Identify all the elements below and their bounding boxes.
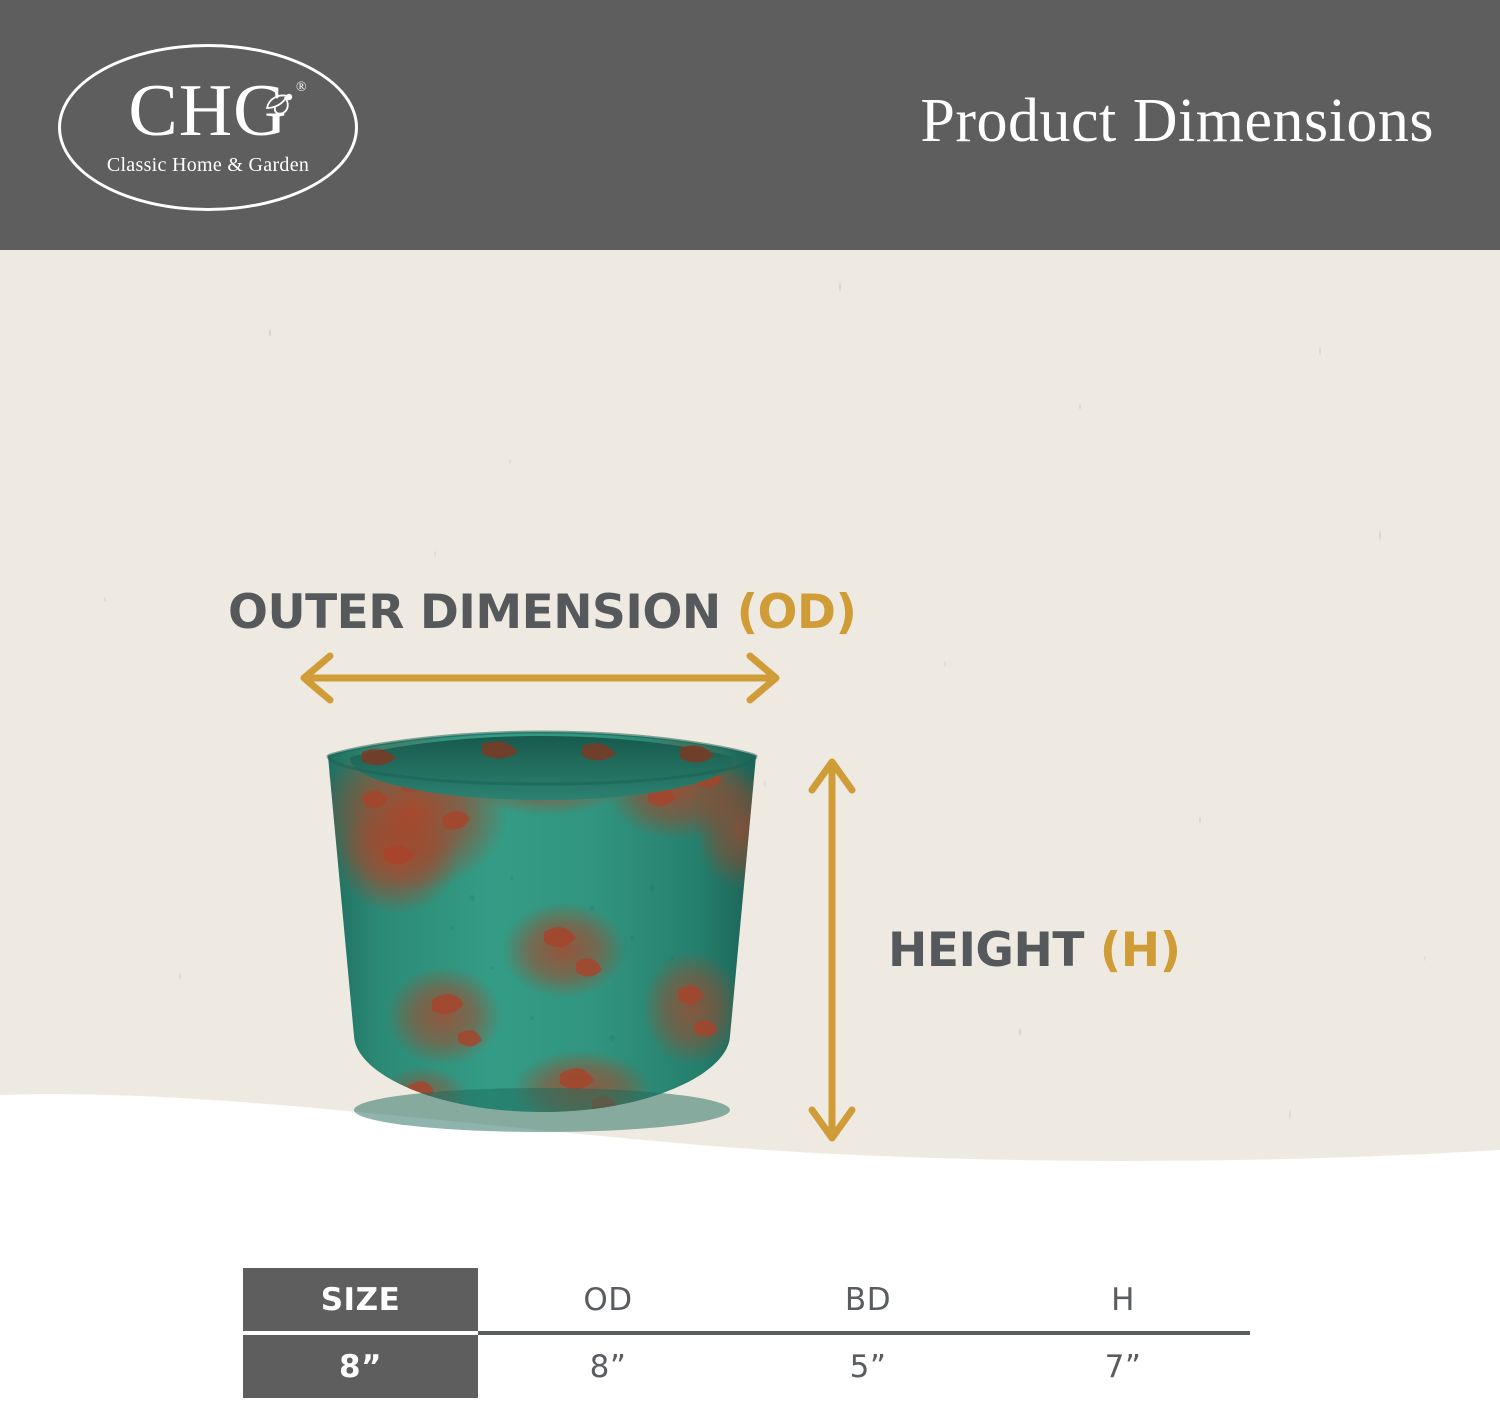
table-header-size-label: SIZE [321,1282,401,1318]
planter-pot-illustration [292,718,792,1158]
diagram-panel: OUTER DIMENSION (OD) [0,250,1500,1170]
label-outer-dimension-text: OUTER DIMENSION [228,585,721,640]
product-dimensions-infographic: CHG ® Classic Home & Garden Product Dime… [0,0,1500,1404]
table-row: 8” 8” 5” 7” [243,1335,1253,1398]
table-header-cell-size: SIZE [243,1268,478,1331]
label-outer-dimension-code: (OD) [737,585,857,640]
logo-monogram: CHG [58,74,358,148]
logo-tagline: Classic Home & Garden [58,154,358,177]
page-title: Product Dimensions [920,86,1434,156]
label-height: HEIGHT (H) [888,925,1181,977]
table-cell-od: 8” [533,1335,683,1398]
chg-logo: CHG ® Classic Home & Garden [58,44,358,211]
table-header-cell-h: H [1048,1268,1198,1331]
table-cell-h: 7” [1048,1335,1198,1398]
table-header-row: SIZE OD BD H [243,1268,1253,1331]
registered-trademark-icon: ® [296,80,307,96]
leaf-sprout-icon [263,90,297,124]
label-height-text: HEIGHT [888,923,1084,978]
header-bar: CHG ® Classic Home & Garden Product Dime… [0,0,1500,250]
label-outer-dimension: OUTER DIMENSION (OD) [228,587,857,639]
dimensions-table: SIZE OD BD H 8” 8” 5” 7” [243,1268,1253,1400]
height-arrow-icon [805,750,861,1150]
outer-dimension-arrow-icon [290,650,790,706]
table-cell-size-value: 8” [339,1349,382,1385]
table-cell-size: 8” [243,1335,478,1398]
label-height-code: (H) [1100,923,1181,978]
table-header-cell-bd: BD [793,1268,943,1331]
planter-pot-image [292,718,792,1158]
table-header-cell-od: OD [533,1268,683,1331]
table-cell-bd: 5” [793,1335,943,1398]
